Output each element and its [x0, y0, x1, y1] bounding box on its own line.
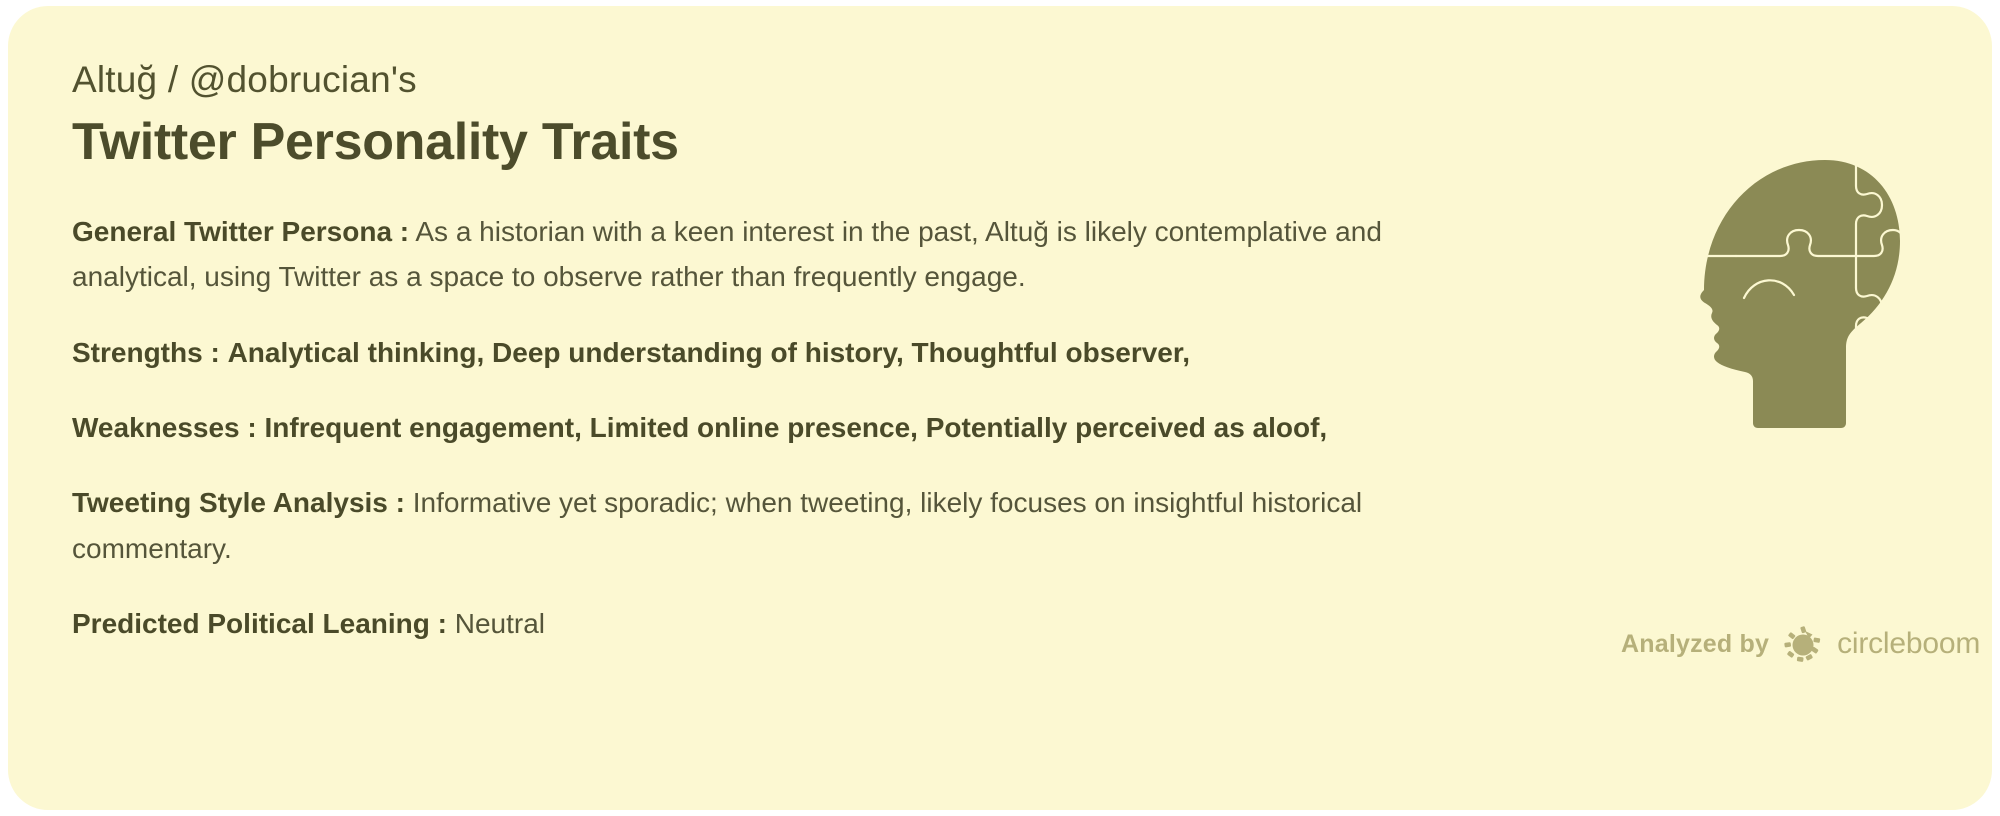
head-puzzle-illustration [1660, 138, 1910, 438]
analyzed-by-label: Analyzed by [1621, 630, 1769, 659]
card-content: Altuğ / @dobrucian's Twitter Personality… [72, 60, 1572, 646]
personality-card: Altuğ / @dobrucian's Twitter Personality… [8, 6, 1992, 810]
section-value: Analytical thinking, Deep understanding … [228, 337, 1190, 368]
section-strengths: Strengths : Analytical thinking, Deep un… [72, 330, 1512, 375]
section-weaknesses: Weaknesses : Infrequent engagement, Limi… [72, 405, 1512, 450]
circleboom-wordmark: circleboom [1837, 627, 1980, 661]
section-predicted-political-leaning: Predicted Political Leaning : Neutral [72, 601, 1512, 646]
section-general-twitter-persona: General Twitter Persona : As a historian… [72, 209, 1512, 300]
section-label: Weaknesses : [72, 412, 257, 443]
section-value: Infrequent engagement, Limited online pr… [265, 412, 1328, 443]
section-label: General Twitter Persona : [72, 216, 409, 247]
analyzed-by-footer: Analyzed by [1621, 624, 1980, 664]
section-label: Tweeting Style Analysis : [72, 487, 405, 518]
section-tweeting-style-analysis: Tweeting Style Analysis : Informative ye… [72, 480, 1512, 571]
section-label: Strengths : [72, 337, 220, 368]
circleboom-logo-icon [1783, 624, 1823, 664]
section-label: Predicted Political Leaning : [72, 608, 447, 639]
section-value: Neutral [455, 608, 545, 639]
page-title: Twitter Personality Traits [72, 113, 1572, 171]
profile-handle: Altuğ / @dobrucian's [72, 60, 1572, 101]
